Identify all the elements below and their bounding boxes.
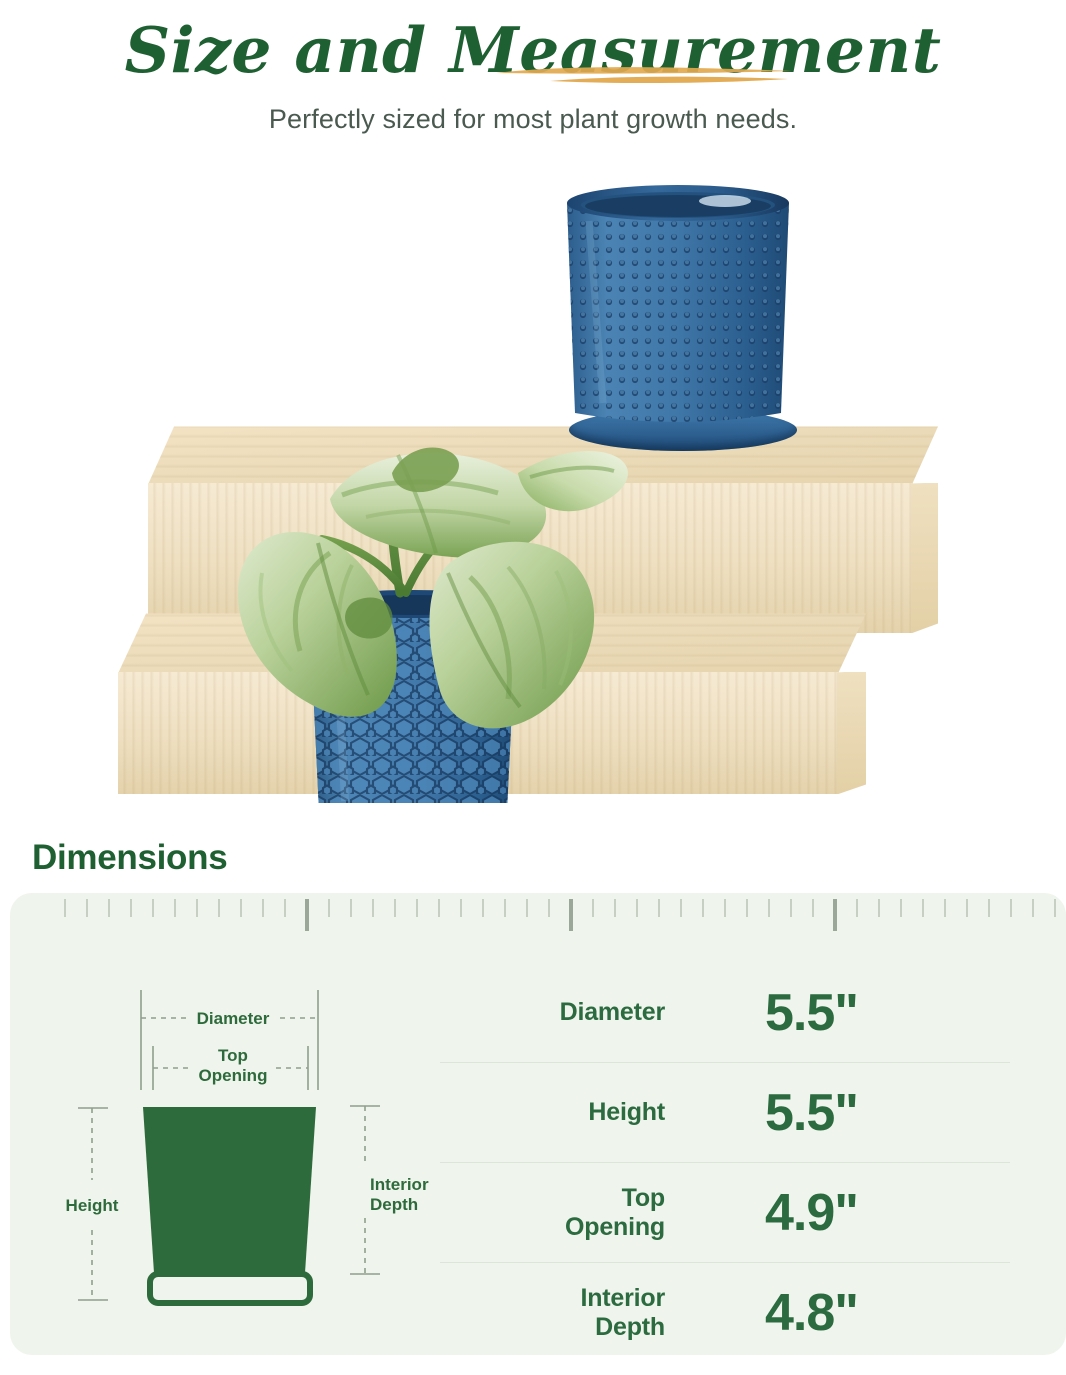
- ruler-ticks: [10, 893, 1066, 939]
- dimensions-panel: .dimline { stroke:#8f9f8d; stroke-width:…: [10, 893, 1066, 1355]
- row-label-line1: Height: [588, 1098, 665, 1126]
- diagram-label-diameter: Diameter: [197, 1009, 270, 1028]
- row-value-diameter: 5.5": [665, 983, 1010, 1043]
- row-label-interior-depth: Interior Depth: [440, 1284, 665, 1342]
- table-row: Height 5.5": [440, 1063, 1010, 1163]
- row-label-diameter: Diameter: [440, 998, 665, 1027]
- row-label-line2: Depth: [595, 1313, 665, 1341]
- row-label-line1: Diameter: [560, 998, 665, 1026]
- row-value-interior-depth: 4.8": [665, 1283, 1010, 1343]
- title-wrap: Size and Measurement: [125, 14, 942, 86]
- row-label-height: Height: [440, 1098, 665, 1127]
- leaf-right: [429, 542, 594, 729]
- dimensions-table: Diameter 5.5" Height 5.5" Top Opening 4.…: [440, 963, 1010, 1355]
- table-row: Top Opening 4.9": [440, 1163, 1010, 1263]
- diagram-label-interior-depth-line2: Depth: [370, 1195, 418, 1214]
- product-photo: [0, 173, 1066, 803]
- diagram-label-interior-depth-line1: Interior: [370, 1175, 429, 1194]
- row-label-top-opening: Top Opening: [440, 1184, 665, 1242]
- page-title: Size and Measurement: [125, 14, 942, 86]
- pot-dimension-diagram: .dimline { stroke:#8f9f8d; stroke-width:…: [40, 968, 440, 1328]
- diagram-label-top-opening-line1: Top: [218, 1046, 248, 1065]
- diagram-label-height: Height: [66, 1196, 119, 1215]
- row-value-top-opening: 4.9": [665, 1183, 1010, 1243]
- diagram-label-top-opening-line2: Opening: [199, 1066, 268, 1085]
- diagram-pot-body: [143, 1107, 316, 1273]
- row-label-line2: Opening: [565, 1213, 665, 1241]
- row-value-height: 5.5": [665, 1083, 1010, 1143]
- row-label-line1: Interior: [580, 1284, 665, 1312]
- dimensions-heading: Dimensions: [32, 838, 227, 878]
- diagram-pot-saucer: [150, 1274, 310, 1303]
- row-label-line1: Top: [622, 1184, 665, 1212]
- table-row: Interior Depth 4.8": [440, 1263, 1010, 1355]
- table-row: Diameter 5.5": [440, 963, 1010, 1063]
- page-subtitle: Perfectly sized for most plant growth ne…: [0, 104, 1066, 135]
- header: Size and Measurement Perfectly sized for…: [0, 0, 1066, 135]
- satin-pothos-plant: [0, 173, 1066, 803]
